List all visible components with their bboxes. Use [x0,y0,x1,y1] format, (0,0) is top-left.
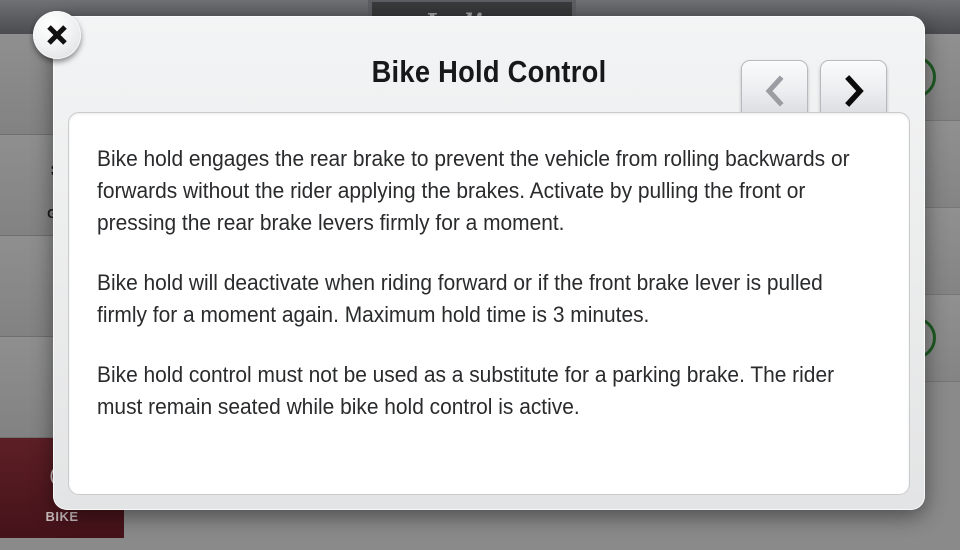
paragraph-2: Bike hold will deactivate when riding fo… [97,267,877,331]
close-icon [33,11,81,59]
close-button[interactable] [33,11,81,59]
paragraph-3: Bike hold control must not be used as a … [97,359,877,423]
paragraph-1: Bike hold engages the rear brake to prev… [97,143,877,239]
dialog-header: Bike Hold Control [53,16,925,112]
dialog-content-panel: Bike hold engages the rear brake to prev… [68,112,910,495]
sidebar-item-label: BIKE [0,509,124,524]
screen: Indian ◔ L ⚙ GEN ◔ T ● A ◎ BIKE [0,0,960,550]
info-dialog: Bike Hold Control Bike hold engages th [53,16,925,510]
